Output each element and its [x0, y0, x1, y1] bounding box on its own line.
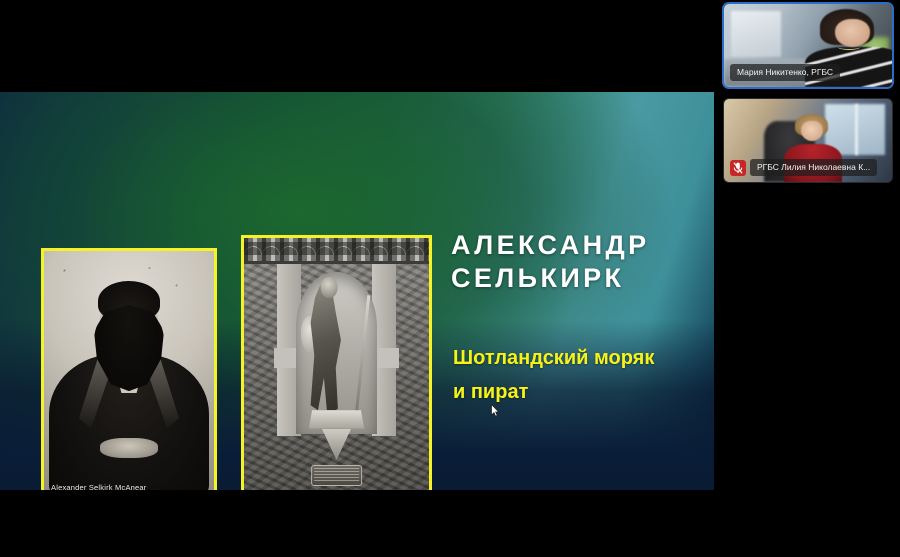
participant-name-row-1: РГБС Лилия Николаевна К... — [730, 159, 877, 176]
microphone-muted-icon — [730, 160, 746, 176]
statue-roof-tiles — [244, 238, 429, 264]
portrait-caption: Alexander Selkirk McAnear — [51, 483, 146, 490]
slide-title-line-1: АЛЕКСАНДР — [451, 229, 650, 262]
statue-plinth — [309, 410, 365, 428]
participant-tile-0[interactable]: Мария Никитенко, РГБС — [724, 4, 892, 87]
slide-subtitle: Шотландский моряк и пират — [453, 341, 654, 409]
mouse-pointer-icon — [491, 404, 500, 417]
statue-plaque — [311, 465, 363, 486]
slide-title: АЛЕКСАНДР СЕЛЬКИРК — [451, 229, 650, 295]
statue-stone-block-left — [274, 348, 296, 369]
statue-stone-block-right — [377, 348, 399, 369]
portrait-photo: Alexander Selkirk McAnear — [41, 248, 217, 490]
slide-subtitle-line-2: и пират — [453, 375, 654, 409]
participant-face-1 — [801, 121, 823, 142]
statue-photo — [241, 235, 432, 490]
participant-name-label-0: Мария Никитенко, РГБС — [730, 64, 840, 81]
participant-name-label-1: РГБС Лилия Николаевна К... — [750, 159, 877, 176]
screen-root: Alexander Selkirk McAnear АЛЕКСАНДР СЕЛЬ… — [0, 0, 900, 557]
participant-tile-1[interactable]: РГБС Лилия Николаевна К... — [724, 99, 892, 182]
shared-screen-region[interactable]: Alexander Selkirk McAnear АЛЕКСАНДР СЕЛЬ… — [0, 92, 714, 490]
slide-subtitle-line-1: Шотландский моряк — [453, 341, 654, 375]
statue-figure-head — [321, 277, 338, 298]
slide-title-line-2: СЕЛЬКИРК — [451, 262, 650, 295]
participant-name-row-0: Мария Никитенко, РГБС — [730, 64, 840, 81]
background-window — [731, 11, 781, 57]
background-window-frame — [855, 104, 858, 155]
portrait-hands — [100, 438, 158, 458]
participant-face-0 — [835, 19, 870, 47]
participant-thumbnail-rail: Мария Никитенко, РГБС — [714, 0, 900, 192]
